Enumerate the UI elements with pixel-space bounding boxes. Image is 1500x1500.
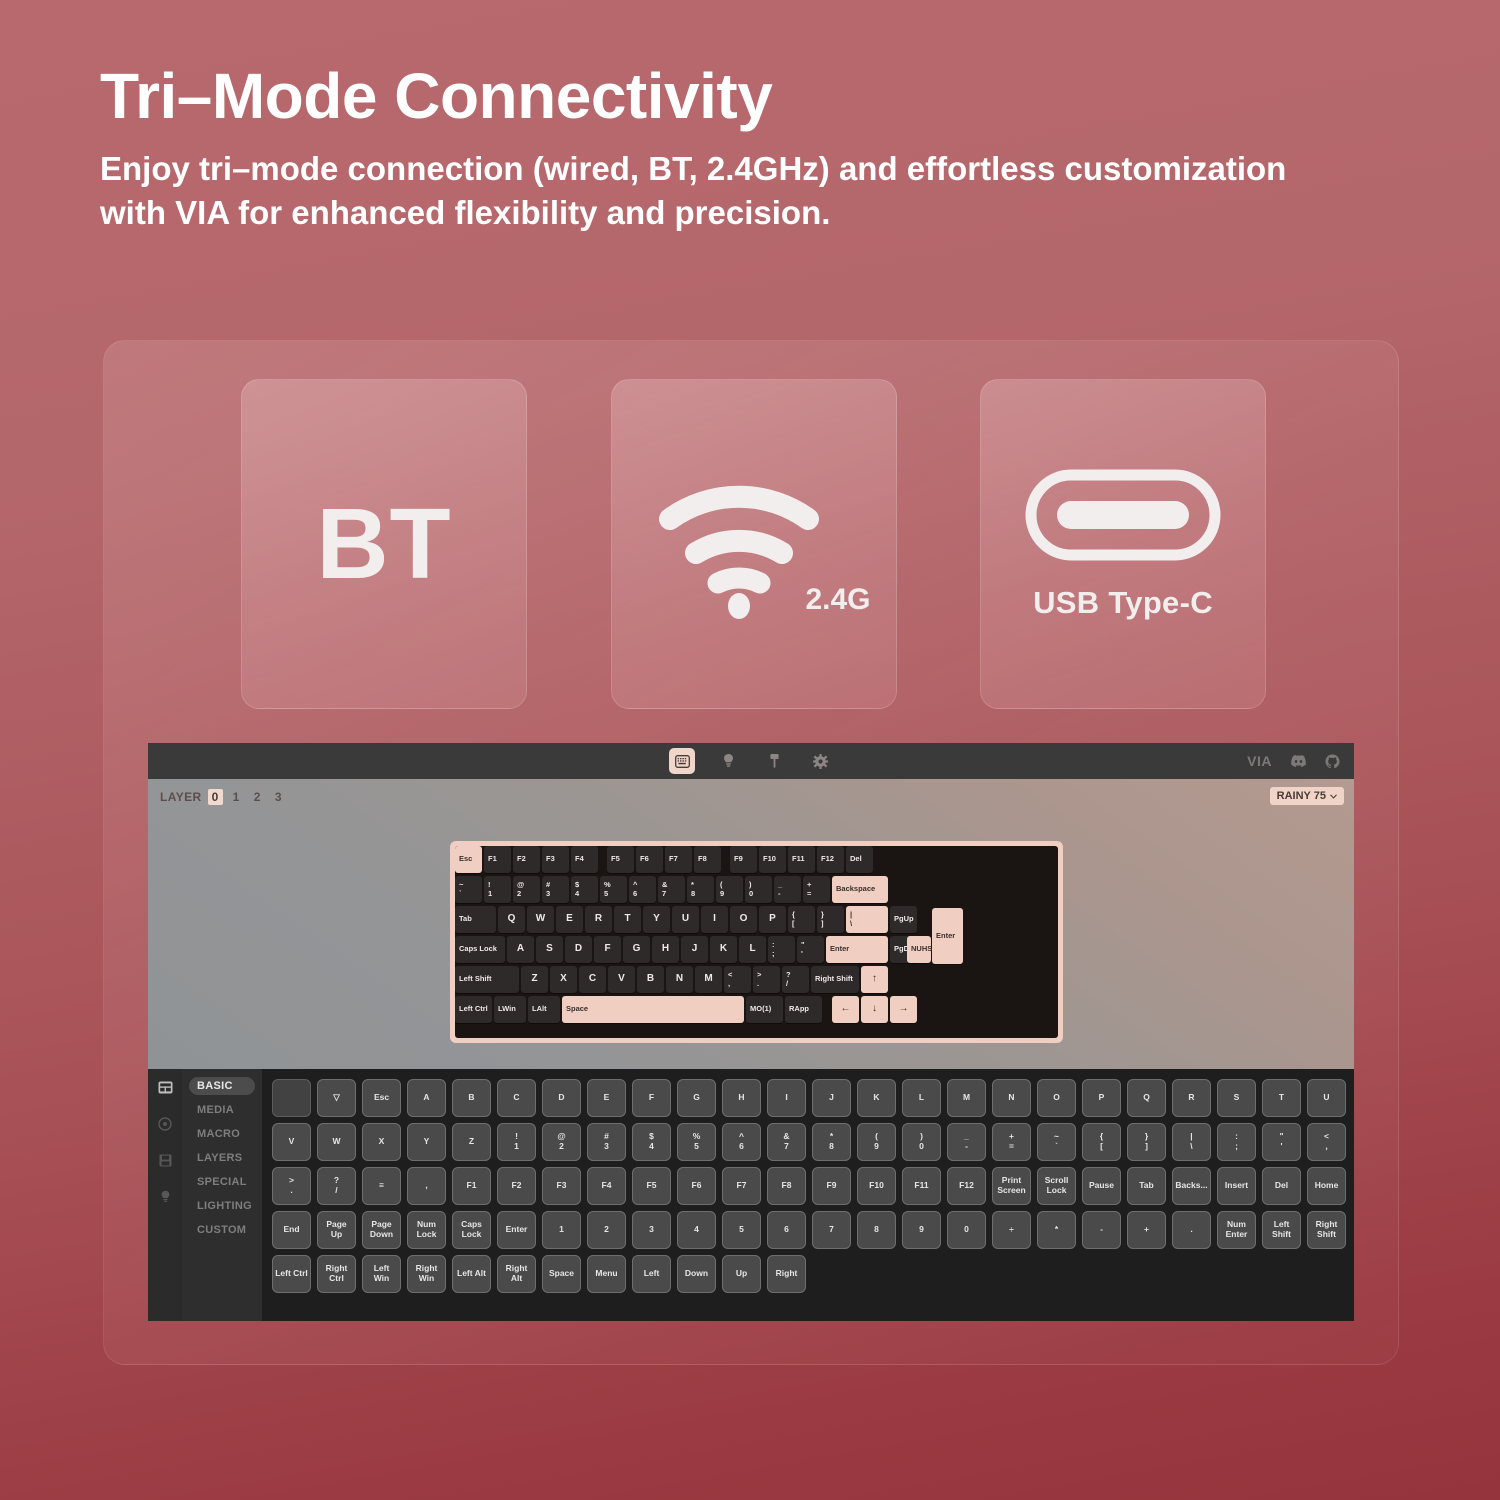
picker-legend: F6: [692, 1181, 702, 1191]
key-picker-key[interactable]: LeftWin: [362, 1255, 401, 1293]
keyboard-key[interactable]: →: [890, 996, 917, 1023]
card-usb: USB Type-C: [980, 379, 1266, 709]
key-picker-key[interactable]: Right: [767, 1255, 806, 1293]
key-picker-key[interactable]: +=: [992, 1123, 1031, 1161]
key-legend-top: %: [604, 881, 611, 889]
key-picker-key[interactable]: ?/: [317, 1167, 356, 1205]
key-picker-key[interactable]: PageDown: [362, 1211, 401, 1249]
keyboard-key[interactable]: X: [550, 966, 577, 993]
key-picker-key[interactable]: X: [362, 1123, 401, 1161]
picker-dual-legend: "': [1279, 1132, 1283, 1152]
keyboard-key[interactable]: RApp: [785, 996, 822, 1023]
key-picker-key[interactable]: ,: [407, 1167, 446, 1205]
key-picker-key[interactable]: Left: [632, 1255, 671, 1293]
keyboard-key[interactable]: Space: [562, 996, 744, 1023]
key-legend-bottom: 6: [633, 890, 637, 898]
keyboard-key[interactable]: ↑: [861, 966, 888, 993]
key-picker-key[interactable]: R: [1172, 1079, 1211, 1117]
key-legend-top: +: [807, 881, 811, 889]
key-picker-key[interactable]: Tab: [1127, 1167, 1166, 1205]
key-legend: F6: [640, 855, 649, 863]
keyboard-key[interactable]: ^6: [629, 876, 656, 903]
keyboard-key[interactable]: A: [507, 936, 534, 963]
usb-c-port-icon: [1023, 467, 1223, 563]
picker-legend: Esc: [374, 1093, 389, 1103]
key-legend-top: }: [821, 911, 824, 919]
key-picker-key[interactable]: Y: [407, 1123, 446, 1161]
keyboard-key[interactable]: N: [666, 966, 693, 993]
key-picker-key[interactable]: Home: [1307, 1167, 1346, 1205]
menu-item-media[interactable]: MEDIA: [189, 1101, 255, 1119]
keyboard-key[interactable]: H: [652, 936, 679, 963]
wifi-icon-wrap: 2.4G: [649, 469, 859, 619]
keyboard-key[interactable]: Del: [846, 846, 873, 873]
key-picker-key[interactable]: RightCtrl: [317, 1255, 356, 1293]
key-picker-key[interactable]: RightAlt: [497, 1255, 536, 1293]
keyboard-key[interactable]: F11: [788, 846, 815, 873]
keyboard-key[interactable]: Backspace: [832, 876, 888, 903]
keyboard-key[interactable]: V: [608, 966, 635, 993]
iso-enter-key[interactable]: Enter: [932, 908, 963, 964]
key-legend: Esc: [459, 855, 472, 863]
github-icon[interactable]: [1325, 754, 1340, 769]
key-picker-key[interactable]: 4: [677, 1211, 716, 1249]
key-legend: F10: [763, 855, 776, 863]
key-picker-key[interactable]: >.: [272, 1167, 311, 1205]
keyboard-key[interactable]: C: [579, 966, 606, 993]
key-legend-bottom: \: [850, 920, 852, 928]
keyboard-key[interactable]: G: [623, 936, 650, 963]
key-picker-key[interactable]: (9: [857, 1123, 896, 1161]
key-picker-key[interactable]: @2: [542, 1123, 581, 1161]
key-picker-key[interactable]: O: [1037, 1079, 1076, 1117]
keyboard-key[interactable]: S: [536, 936, 563, 963]
menu-item-macro[interactable]: MACRO: [189, 1125, 255, 1143]
key-picker-key[interactable]: J: [812, 1079, 851, 1117]
picker-legend: Home: [1315, 1181, 1339, 1191]
key-dual-legend: ^6: [633, 881, 637, 898]
discord-icon[interactable]: [1290, 754, 1307, 768]
keyboard-key[interactable]: Esc: [455, 846, 482, 873]
picker-legend: Backs...: [1175, 1181, 1207, 1191]
key-picker-key[interactable]: NumEnter: [1217, 1211, 1256, 1249]
keyboard-key[interactable]: F7: [665, 846, 692, 873]
picker-dual-legend: RightWin: [416, 1264, 438, 1284]
keyboard-key[interactable]: LWin: [494, 996, 526, 1023]
keyboard-key[interactable]: F6: [636, 846, 663, 873]
key-picker-key[interactable]: Backs...: [1172, 1167, 1211, 1205]
record-icon[interactable]: [158, 1117, 172, 1136]
picker-legend: F4: [602, 1181, 612, 1191]
key-picker-key[interactable]: 7: [812, 1211, 851, 1249]
picker-legend-bottom: 5: [694, 1142, 699, 1152]
keyboard-key[interactable]: B: [637, 966, 664, 993]
key-legend: Enter: [936, 932, 955, 940]
keyboard-key[interactable]: P: [759, 906, 786, 933]
keyboard-key[interactable]: F: [594, 936, 621, 963]
picker-legend: Y: [424, 1137, 430, 1147]
keyboard-key[interactable]: _-: [774, 876, 801, 903]
keyboard-key[interactable]: F4: [571, 846, 598, 873]
picker-legend: Pause: [1089, 1181, 1114, 1191]
picker-legend: 7: [829, 1225, 834, 1235]
via-bottom-panel: BASICMEDIAMACROLAYERSSPECIALLIGHTINGCUST…: [148, 1069, 1354, 1321]
key-picker-key[interactable]: F2: [497, 1167, 536, 1205]
key-legend-top: ~: [459, 881, 463, 889]
key-picker-key[interactable]: H: [722, 1079, 761, 1117]
picker-legend: Enter: [506, 1225, 528, 1235]
picker-legend-bottom: Win: [374, 1274, 390, 1284]
key-legend-top: ": [801, 941, 805, 949]
key-legend: L: [749, 944, 755, 955]
picker-legend-bottom: Up: [331, 1230, 342, 1240]
key-picker-key[interactable]: Menu: [587, 1255, 626, 1293]
keyboard-key[interactable]: >.: [753, 966, 780, 993]
picker-legend-bottom: 9: [874, 1142, 879, 1152]
key-picker-key[interactable]: 9: [902, 1211, 941, 1249]
key-picker-key[interactable]: G: [677, 1079, 716, 1117]
picker-legend: 0: [964, 1225, 969, 1235]
menu-item-special[interactable]: SPECIAL: [189, 1173, 255, 1191]
key-legend-top: ): [749, 881, 752, 889]
key-picker-key[interactable]: &7: [767, 1123, 806, 1161]
picker-legend: F11: [914, 1181, 928, 1191]
picker-dual-legend: )0: [919, 1132, 924, 1152]
keyboard-glyph: [675, 755, 690, 768]
picker-legend: +: [1144, 1225, 1149, 1235]
key-picker-key[interactable]: -: [1082, 1211, 1121, 1249]
layer-option-0[interactable]: 0: [208, 789, 223, 805]
key-picker-key[interactable]: NumLock: [407, 1211, 446, 1249]
key-legend: O: [740, 914, 748, 925]
keyboard-layout-icon[interactable]: [158, 1081, 173, 1099]
keyboard-key[interactable]: Enter: [826, 936, 888, 963]
key-picker-key[interactable]: Left Ctrl: [272, 1255, 311, 1293]
menu-item-lighting[interactable]: LIGHTING: [189, 1197, 255, 1215]
key-legend: C: [589, 974, 596, 985]
key-picker-key[interactable]: 2: [587, 1211, 626, 1249]
keyboard-key[interactable]: U: [672, 906, 699, 933]
keyboard-key[interactable]: $4: [571, 876, 598, 903]
key-picker-key[interactable]: F7: [722, 1167, 761, 1205]
keyboard-key[interactable]: PgUp: [890, 906, 917, 933]
key-picker-key[interactable]: Del: [1262, 1167, 1301, 1205]
chevron-down-icon: [1330, 794, 1337, 799]
key-picker-key[interactable]: :;: [1217, 1123, 1256, 1161]
key-picker-key[interactable]: CapsLock: [452, 1211, 491, 1249]
key-picker-key[interactable]: U: [1307, 1079, 1346, 1117]
key-picker-key[interactable]: Down: [677, 1255, 716, 1293]
key-legend: S: [546, 944, 553, 955]
keyboard-key[interactable]: ~`: [455, 876, 482, 903]
key-picker-key[interactable]: {[: [1082, 1123, 1121, 1161]
key-picker-grid: ▽EscABCDEFGHIJKLMNOPQRSTUVWXYZ!1@2#3$4%5…: [262, 1069, 1354, 1321]
key-dual-legend: %5: [604, 881, 611, 898]
picker-legend-bottom: `: [1055, 1142, 1058, 1152]
keyboard-key[interactable]: K: [710, 936, 737, 963]
hero-section: Tri–Mode Connectivity Enjoy tri–mode con…: [100, 62, 1420, 235]
key-picker-key[interactable]: T: [1262, 1079, 1301, 1117]
picker-dual-legend: |\: [1190, 1132, 1192, 1152]
keyboard-key[interactable]: &7: [658, 876, 685, 903]
key-picker-key[interactable]: Insert: [1217, 1167, 1256, 1205]
page-subtitle: Enjoy tri–mode connection (wired, BT, 2.…: [100, 147, 1300, 235]
key-picker-key[interactable]: F6: [677, 1167, 716, 1205]
keyboard-key[interactable]: M: [695, 966, 722, 993]
keyboard-key[interactable]: Left Ctrl: [455, 996, 492, 1023]
layer-option-1[interactable]: 1: [229, 789, 244, 805]
keyboard-select-value: RAINY 75: [1277, 790, 1326, 802]
keyboard-key[interactable]: Y: [643, 906, 670, 933]
keyboard-key[interactable]: |\: [846, 906, 888, 933]
key-picker-key[interactable]: Pause: [1082, 1167, 1121, 1205]
key-picker-key[interactable]: "': [1262, 1123, 1301, 1161]
key-picker-key[interactable]: F10: [857, 1167, 896, 1205]
picker-dual-legend: :;: [1235, 1132, 1238, 1152]
keyboard-key[interactable]: F12: [817, 846, 844, 873]
menu-item-basic[interactable]: BASIC: [189, 1077, 255, 1095]
key-picker-key[interactable]: F3: [542, 1167, 581, 1205]
key-picker-key[interactable]: ≡: [362, 1167, 401, 1205]
keyboard-key[interactable]: <,: [724, 966, 751, 993]
picker-legend: H: [738, 1093, 744, 1103]
key-legend-top: (: [720, 881, 723, 889]
key-picker-key[interactable]: |\: [1172, 1123, 1211, 1161]
lightbulb-icon[interactable]: [160, 1190, 171, 1209]
key-picker-key[interactable]: I: [767, 1079, 806, 1117]
key-legend-bottom: 4: [575, 890, 579, 898]
keyboard-key[interactable]: *8: [687, 876, 714, 903]
key-picker-key[interactable]: *8: [812, 1123, 851, 1161]
layer-option-3[interactable]: 3: [271, 789, 286, 805]
picker-legend: 8: [874, 1225, 879, 1235]
picker-legend: ▽: [333, 1093, 340, 1103]
key-picker-key[interactable]: ▽: [317, 1079, 356, 1117]
key-legend-top: @: [517, 881, 524, 889]
picker-legend: ≡: [379, 1181, 384, 1191]
key-picker-key[interactable]: Q: [1127, 1079, 1166, 1117]
key-picker-key[interactable]: C: [497, 1079, 536, 1117]
key-picker-key[interactable]: K: [857, 1079, 896, 1117]
key-legend-bottom: 8: [691, 890, 695, 898]
keyboard-key[interactable]: E: [556, 906, 583, 933]
page-title: Tri–Mode Connectivity: [100, 62, 1420, 131]
key-picker-key[interactable]: W: [317, 1123, 356, 1161]
key-picker-key[interactable]: $4: [632, 1123, 671, 1161]
keyboard-key[interactable]: F2: [513, 846, 540, 873]
key-picker-key[interactable]: F5: [632, 1167, 671, 1205]
keyboard-key[interactable]: W: [527, 906, 554, 933]
keyboard-key[interactable]: F3: [542, 846, 569, 873]
keyboard-key[interactable]: Caps Lock: [455, 936, 505, 963]
picker-legend-bottom: ]: [1145, 1142, 1148, 1152]
key-picker-key[interactable]: V: [272, 1123, 311, 1161]
keyboard-key[interactable]: )0: [745, 876, 772, 903]
save-icon[interactable]: [159, 1154, 172, 1172]
key-picker-key[interactable]: LeftShift: [1262, 1211, 1301, 1249]
key-picker-key[interactable]: F: [632, 1079, 671, 1117]
keyboard-key[interactable]: F9: [730, 846, 757, 873]
key-picker-key[interactable]: %5: [677, 1123, 716, 1161]
keyboard-key[interactable]: I: [701, 906, 728, 933]
key-picker-key[interactable]: F1: [452, 1167, 491, 1205]
key-picker-key[interactable]: D: [542, 1079, 581, 1117]
key-picker-key[interactable]: 8: [857, 1211, 896, 1249]
key-legend-top: :: [772, 941, 775, 949]
key-picker-key[interactable]: 0: [947, 1211, 986, 1249]
key-picker-key[interactable]: _-: [947, 1123, 986, 1161]
picker-dual-legend: !1: [514, 1132, 519, 1152]
key-picker-key[interactable]: E: [587, 1079, 626, 1117]
key-legend: D: [575, 944, 582, 955]
key-picker-key[interactable]: !1: [497, 1123, 536, 1161]
key-legend-bottom: 7: [662, 890, 666, 898]
card-bluetooth: BT: [241, 379, 527, 709]
key-picker-key[interactable]: Left Alt: [452, 1255, 491, 1293]
key-picker-key[interactable]: P: [1082, 1079, 1121, 1117]
keyboard-key[interactable]: F10: [759, 846, 786, 873]
key-picker-key[interactable]: 1: [542, 1211, 581, 1249]
keyboard-key[interactable]: LAlt: [528, 996, 560, 1023]
keyboard-key[interactable]: Tab: [455, 906, 496, 933]
picker-legend: 4: [694, 1225, 699, 1235]
keyboard-key[interactable]: @2: [513, 876, 540, 903]
key-dual-legend: !1: [488, 881, 492, 898]
key-picker-key[interactable]: F8: [767, 1167, 806, 1205]
picker-legend: F12: [959, 1181, 974, 1191]
keyboard-key[interactable]: Q: [498, 906, 525, 933]
keyboard-key[interactable]: T: [614, 906, 641, 933]
key-picker-key[interactable]: }]: [1127, 1123, 1166, 1161]
key-picker-blank[interactable]: [272, 1079, 311, 1117]
layer-selector[interactable]: LAYER 0 1 2 3: [160, 789, 286, 805]
key-legend: B: [647, 974, 654, 985]
keyboard-key[interactable]: #3: [542, 876, 569, 903]
key-picker-key[interactable]: Esc: [362, 1079, 401, 1117]
picker-legend: K: [873, 1093, 879, 1103]
key-picker-key[interactable]: *: [1037, 1211, 1076, 1249]
key-picker-key[interactable]: )0: [902, 1123, 941, 1161]
via-toolbar-icons: [669, 748, 833, 774]
keyboard-key[interactable]: Z: [521, 966, 548, 993]
keyboard-icon[interactable]: [669, 748, 695, 774]
key-picker-key[interactable]: #3: [587, 1123, 626, 1161]
key-picker-key[interactable]: L: [902, 1079, 941, 1117]
keyboard-key[interactable]: J: [681, 936, 708, 963]
keyboard-key[interactable]: MO(1): [746, 996, 783, 1023]
key-picker-key[interactable]: F12: [947, 1167, 986, 1205]
nuhs-key[interactable]: NUHS: [907, 936, 931, 963]
key-picker-key[interactable]: 5: [722, 1211, 761, 1249]
gear-icon[interactable]: [807, 748, 833, 774]
keyboard-key[interactable]: !1: [484, 876, 511, 903]
keyboard-key[interactable]: {[: [788, 906, 815, 933]
key-legend-bottom: 0: [749, 890, 753, 898]
keyboard-key[interactable]: F1: [484, 846, 511, 873]
keyboard-key[interactable]: +=: [803, 876, 830, 903]
menu-item-layers[interactable]: LAYERS: [189, 1149, 255, 1167]
key-picker-key[interactable]: Z: [452, 1123, 491, 1161]
key-legend: J: [692, 944, 698, 955]
keyboard-key[interactable]: O: [730, 906, 757, 933]
key-picker-key[interactable]: +: [1127, 1211, 1166, 1249]
key-picker-key[interactable]: 3: [632, 1211, 671, 1249]
key-picker-key[interactable]: F9: [812, 1167, 851, 1205]
key-picker-key[interactable]: <,: [1307, 1123, 1346, 1161]
keyboard-key[interactable]: R: [585, 906, 612, 933]
key-picker-key[interactable]: N: [992, 1079, 1031, 1117]
keyboard-key[interactable]: ?/: [782, 966, 809, 993]
key-picker-key[interactable]: A: [407, 1079, 446, 1117]
picker-legend: 9: [919, 1225, 924, 1235]
lightbulb-icon[interactable]: [715, 748, 741, 774]
picker-legend-bottom: ,: [1325, 1142, 1327, 1152]
key-picker-key[interactable]: Enter: [497, 1211, 536, 1249]
key-picker-key[interactable]: S: [1217, 1079, 1256, 1117]
key-picker-key[interactable]: .: [1172, 1211, 1211, 1249]
keyboard-key[interactable]: Left Shift: [455, 966, 519, 993]
key-picker-key[interactable]: ScrollLock: [1037, 1167, 1076, 1205]
keyboard-select-dropdown[interactable]: RAINY 75: [1270, 787, 1344, 805]
key-picker-key[interactable]: RightShift: [1307, 1211, 1346, 1249]
keyboard-key[interactable]: F8: [694, 846, 721, 873]
keyboard-key[interactable]: :;: [768, 936, 795, 963]
key-picker-key[interactable]: Space: [542, 1255, 581, 1293]
keyboard-key[interactable]: F5: [607, 846, 634, 873]
key-legend: F3: [546, 855, 555, 863]
picker-legend: A: [423, 1093, 429, 1103]
keyboard-key[interactable]: D: [565, 936, 592, 963]
key-picker-key[interactable]: B: [452, 1079, 491, 1117]
key-picker-key[interactable]: Up: [722, 1255, 761, 1293]
macro-icon[interactable]: [761, 748, 787, 774]
key-picker-key[interactable]: PrintScreen: [992, 1167, 1031, 1205]
key-picker-key[interactable]: End: [272, 1211, 311, 1249]
keyboard-key[interactable]: L: [739, 936, 766, 963]
menu-item-custom[interactable]: CUSTOM: [189, 1221, 255, 1239]
key-picker-key[interactable]: ÷: [992, 1211, 1031, 1249]
picker-legend-bottom: 1: [514, 1142, 519, 1152]
keyboard-key[interactable]: Right Shift: [811, 966, 859, 993]
keyboard-key[interactable]: ←: [832, 996, 859, 1023]
picker-legend: B: [468, 1093, 474, 1103]
key-legend-top: ^: [633, 881, 637, 889]
picker-legend: F8: [782, 1181, 792, 1191]
key-picker-key[interactable]: ^6: [722, 1123, 761, 1161]
key-picker-key[interactable]: ~`: [1037, 1123, 1076, 1161]
picker-dual-legend: PrintScreen: [997, 1176, 1025, 1196]
keyboard-key[interactable]: %5: [600, 876, 627, 903]
keyboard-key[interactable]: ↓: [861, 996, 888, 1023]
key-picker-key[interactable]: M: [947, 1079, 986, 1117]
key-picker-key[interactable]: F4: [587, 1167, 626, 1205]
keyboard-key[interactable]: }]: [817, 906, 844, 933]
key-picker-key[interactable]: 6: [767, 1211, 806, 1249]
key-picker-key[interactable]: RightWin: [407, 1255, 446, 1293]
keyboard-key[interactable]: (9: [716, 876, 743, 903]
picker-legend: J: [829, 1093, 834, 1103]
key-legend: U: [682, 914, 689, 925]
key-legend: F: [604, 944, 610, 955]
key-legend: RApp: [789, 1005, 809, 1013]
key-picker-row: >.?/≡,F1F2F3F4F5F6F7F8F9F10F11F12PrintSc…: [272, 1167, 1346, 1205]
layer-option-2[interactable]: 2: [250, 789, 265, 805]
keyboard-key[interactable]: "': [797, 936, 824, 963]
picker-legend-bottom: Lock: [1047, 1186, 1067, 1196]
picker-legend-bottom: Alt: [511, 1274, 522, 1284]
key-picker-key[interactable]: PageUp: [317, 1211, 356, 1249]
key-picker-key[interactable]: F11: [902, 1167, 941, 1205]
